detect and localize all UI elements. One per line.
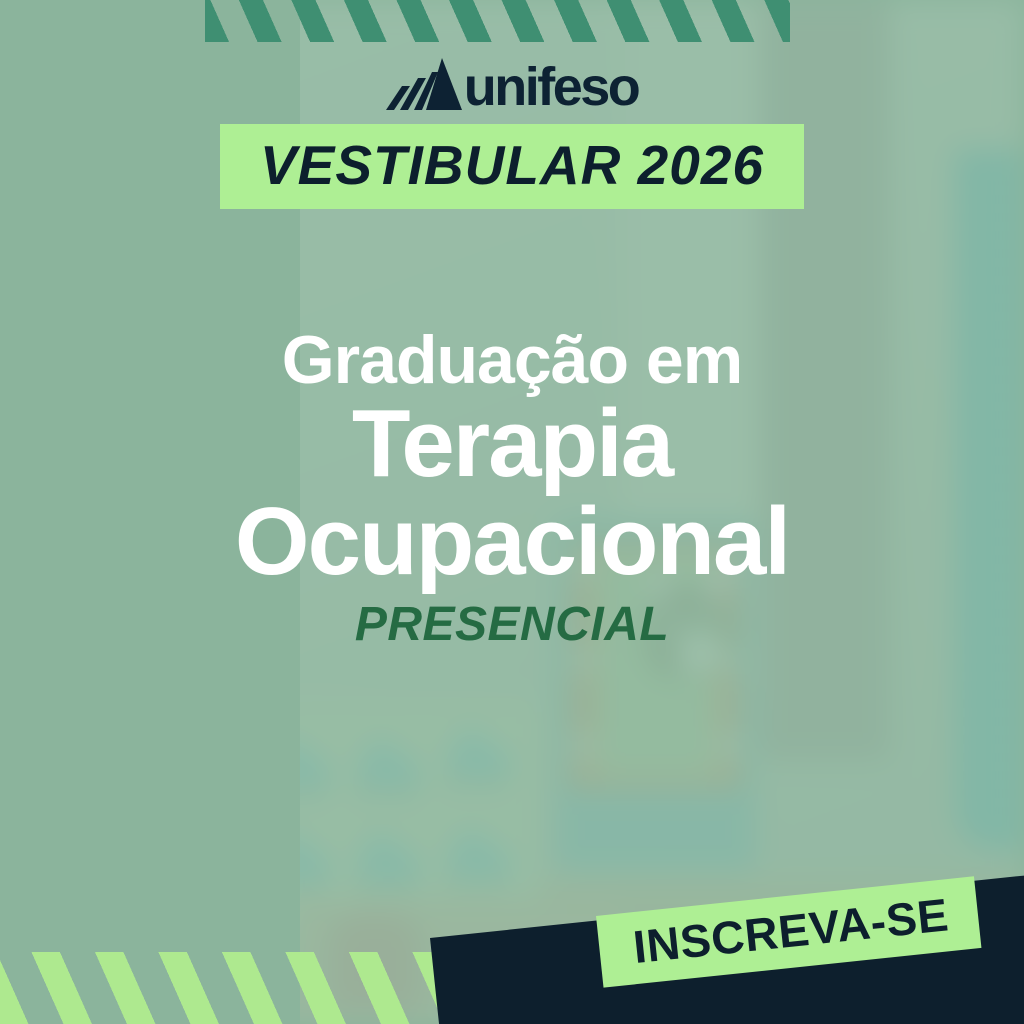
vestibular-banner-wrap: VESTIBULAR 2026 [0,124,1024,209]
headline-line-3: Ocupacional [0,493,1024,591]
headline-subtitle: PRESENCIAL [0,601,1024,649]
promo-poster: unifeso VESTIBULAR 2026 Graduação em Ter… [0,0,1024,1024]
diagonal-stripes-top [205,0,790,42]
headline-line-1: Graduação em [0,326,1024,395]
diagonal-stripes-bottom [0,952,500,1024]
vestibular-banner: VESTIBULAR 2026 [220,124,804,209]
vestibular-label: VESTIBULAR 2026 [260,138,764,193]
headline-line-2: Terapia [0,395,1024,493]
headline-block: Graduação em Terapia Ocupacional PRESENC… [0,326,1024,649]
unifeso-wordmark: unifeso [464,60,639,114]
unifeso-logo: unifeso [0,58,1024,115]
unifeso-mountain-mark [386,58,462,115]
